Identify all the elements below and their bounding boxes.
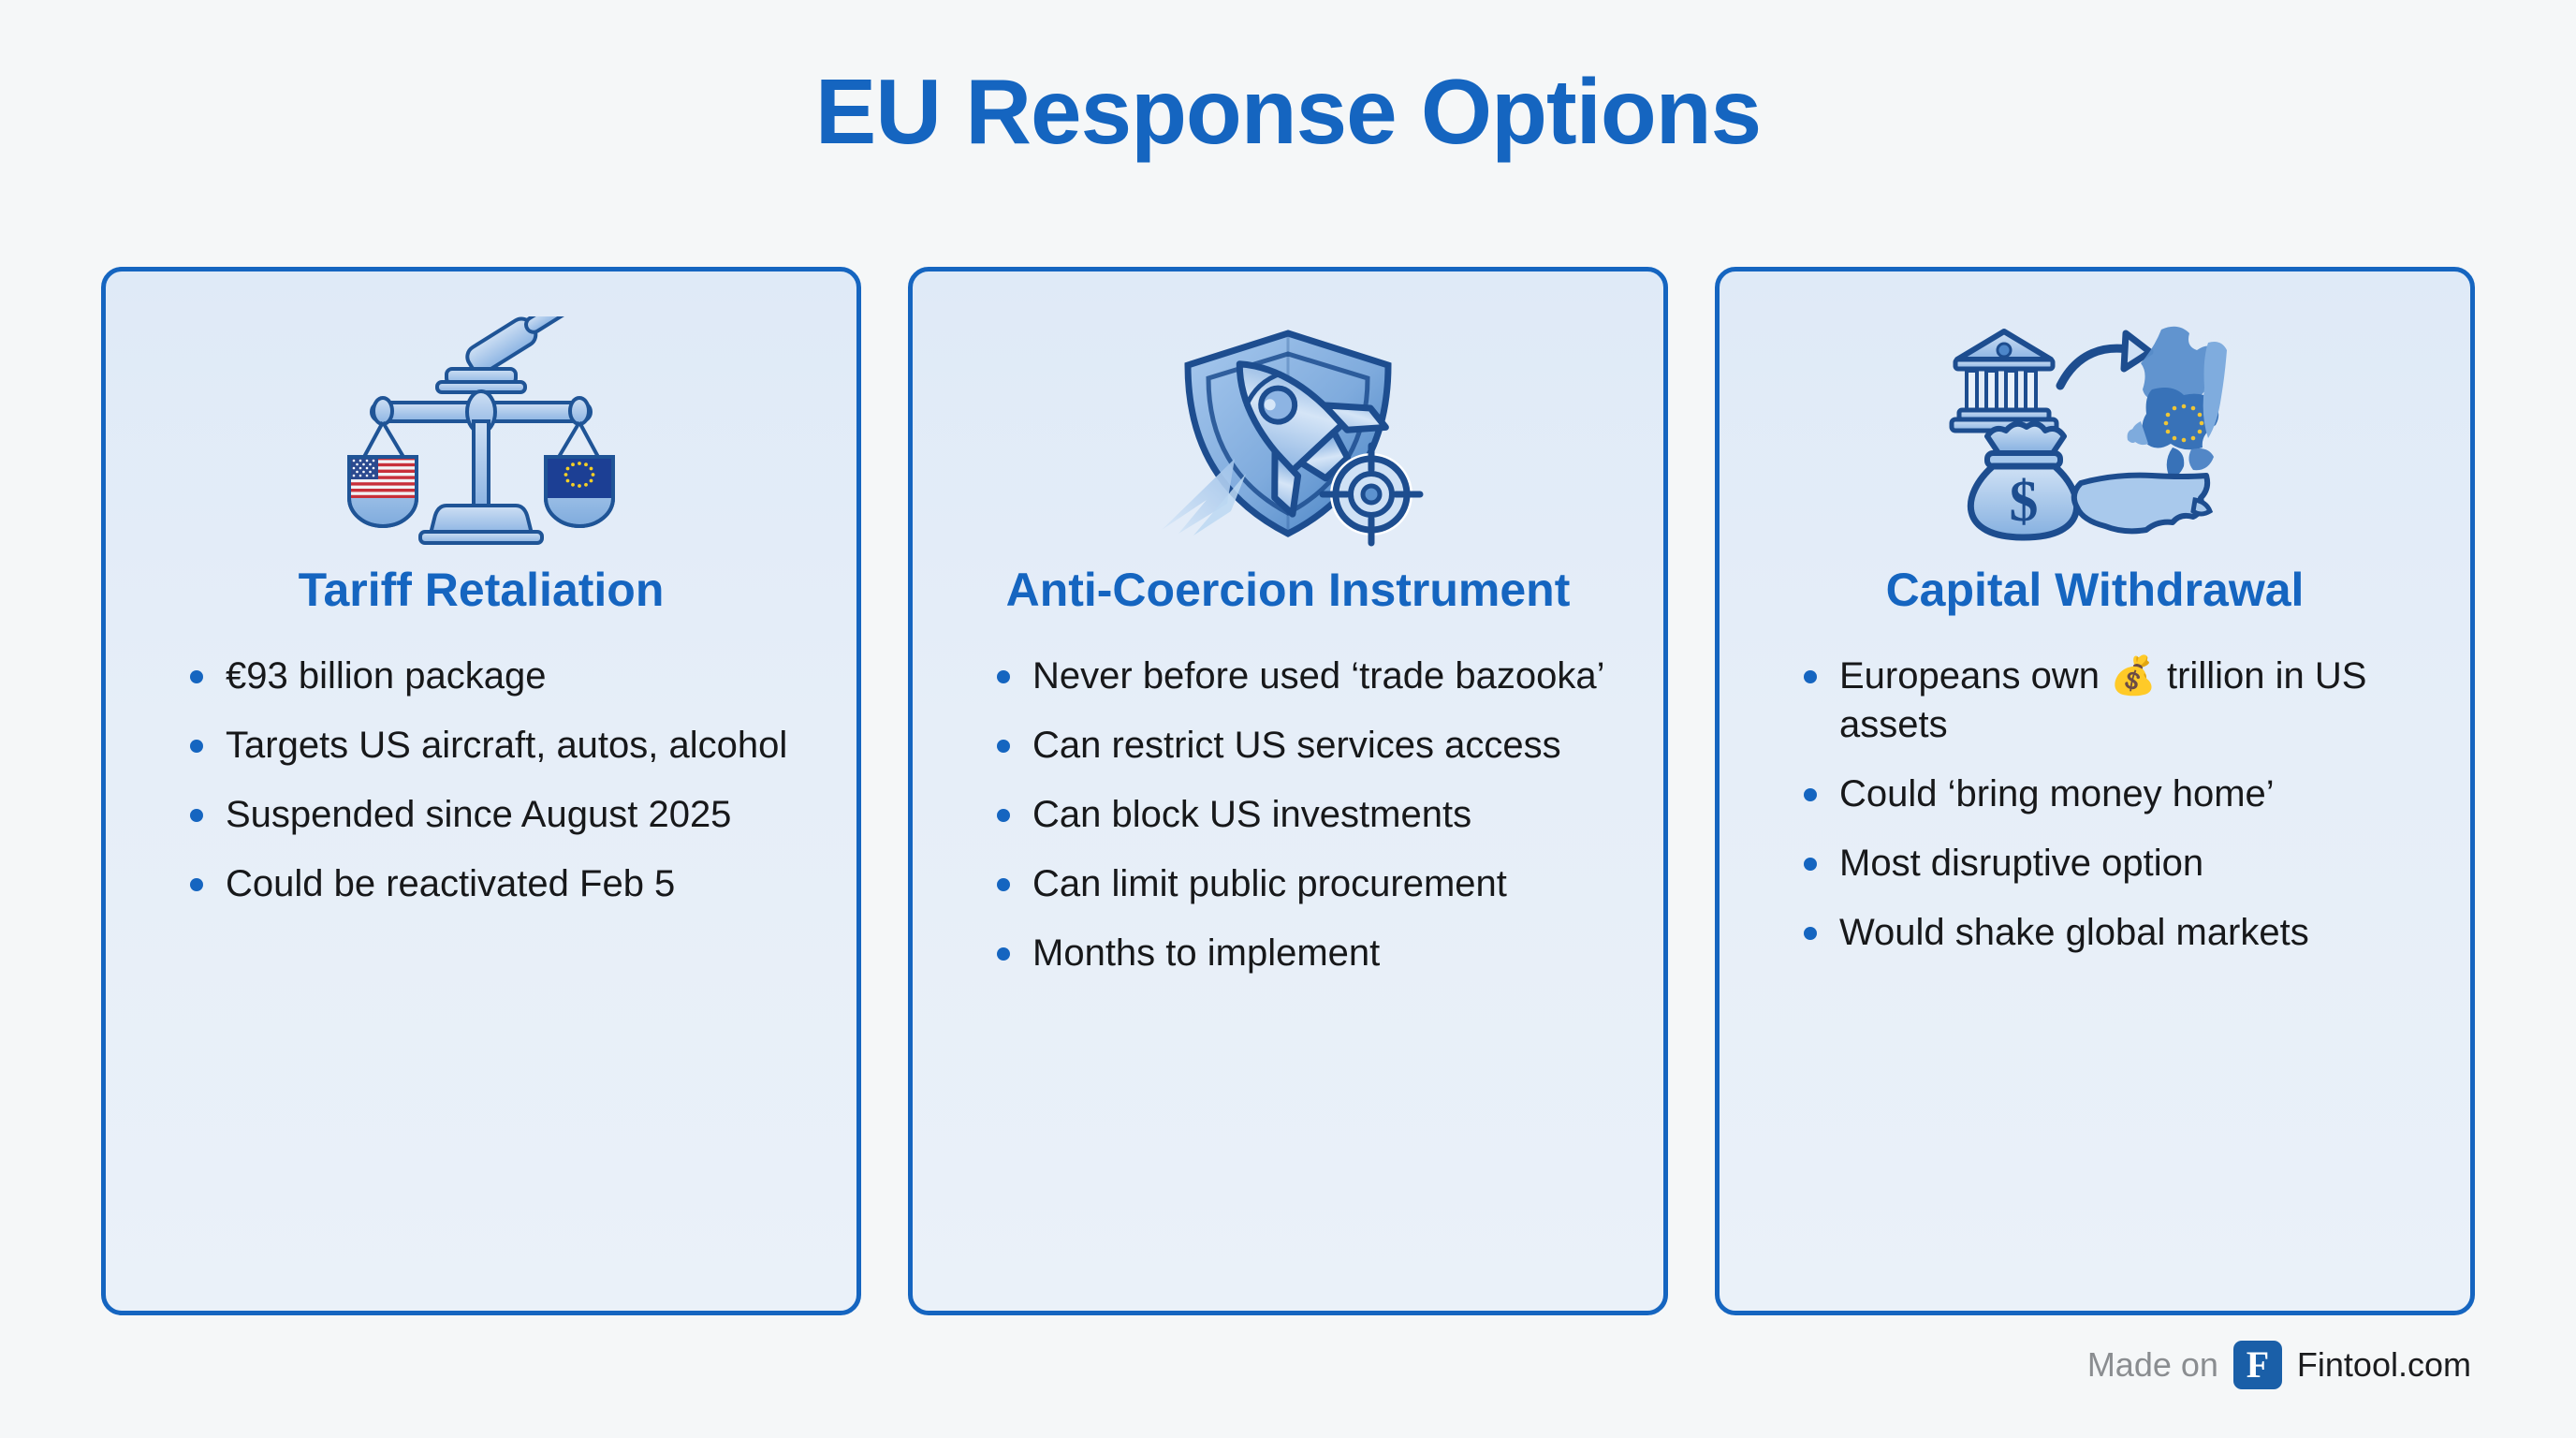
list-item: Europeans own 💰 trillion in US assets xyxy=(1802,652,2427,749)
svg-text:$: $ xyxy=(2010,470,2039,534)
fintool-logo-icon: F xyxy=(2233,1341,2282,1389)
card-title: Tariff Retaliation xyxy=(149,564,813,618)
list-item: Could ‘bring money home’ xyxy=(1802,770,2427,818)
list-item: Could be reactivated Feb 5 xyxy=(188,859,813,908)
page-title: EU Response Options xyxy=(0,64,2576,160)
list-item: Can restrict US services access xyxy=(995,721,1620,770)
list-item: Can limit public procurement xyxy=(995,859,1620,908)
footer-attribution: Made on F Fintool.com xyxy=(2087,1341,2471,1389)
shield-rocket-target-icon xyxy=(956,313,1620,554)
card-title: Anti-Coercion Instrument xyxy=(956,564,1620,618)
list-item: Months to implement xyxy=(995,929,1620,977)
card-anti-coercion-instrument: Anti-Coercion Instrument Never before us… xyxy=(908,267,1668,1315)
list-item: €93 billion package xyxy=(188,652,813,700)
response-options-card-row: Tariff Retaliation €93 billion package T… xyxy=(101,267,2475,1315)
list-item: Most disruptive option xyxy=(1802,839,2427,888)
balance-scale-us-eu-gavel-icon xyxy=(149,313,813,554)
list-item: Targets US aircraft, autos, alcohol xyxy=(188,721,813,770)
card-bullet-list: €93 billion package Targets US aircraft,… xyxy=(149,652,813,929)
footer-made-on-label: Made on xyxy=(2087,1345,2218,1385)
list-item: Never before used ‘trade bazooka’ xyxy=(995,652,1620,700)
card-bullet-list: Europeans own 💰 trillion in US assets Co… xyxy=(1763,652,2427,977)
card-title: Capital Withdrawal xyxy=(1763,564,2427,618)
bank-money-bag-europe-us-map-icon: $ xyxy=(1763,313,2427,554)
list-item: Suspended since August 2025 xyxy=(188,790,813,839)
card-bullet-list: Never before used ‘trade bazooka’ Can re… xyxy=(956,652,1620,998)
list-item: Would shake global markets xyxy=(1802,908,2427,957)
footer-brand-name: Fintool.com xyxy=(2297,1345,2471,1385)
card-capital-withdrawal: $ xyxy=(1715,267,2475,1315)
list-item: Can block US investments xyxy=(995,790,1620,839)
card-tariff-retaliation: Tariff Retaliation €93 billion package T… xyxy=(101,267,861,1315)
